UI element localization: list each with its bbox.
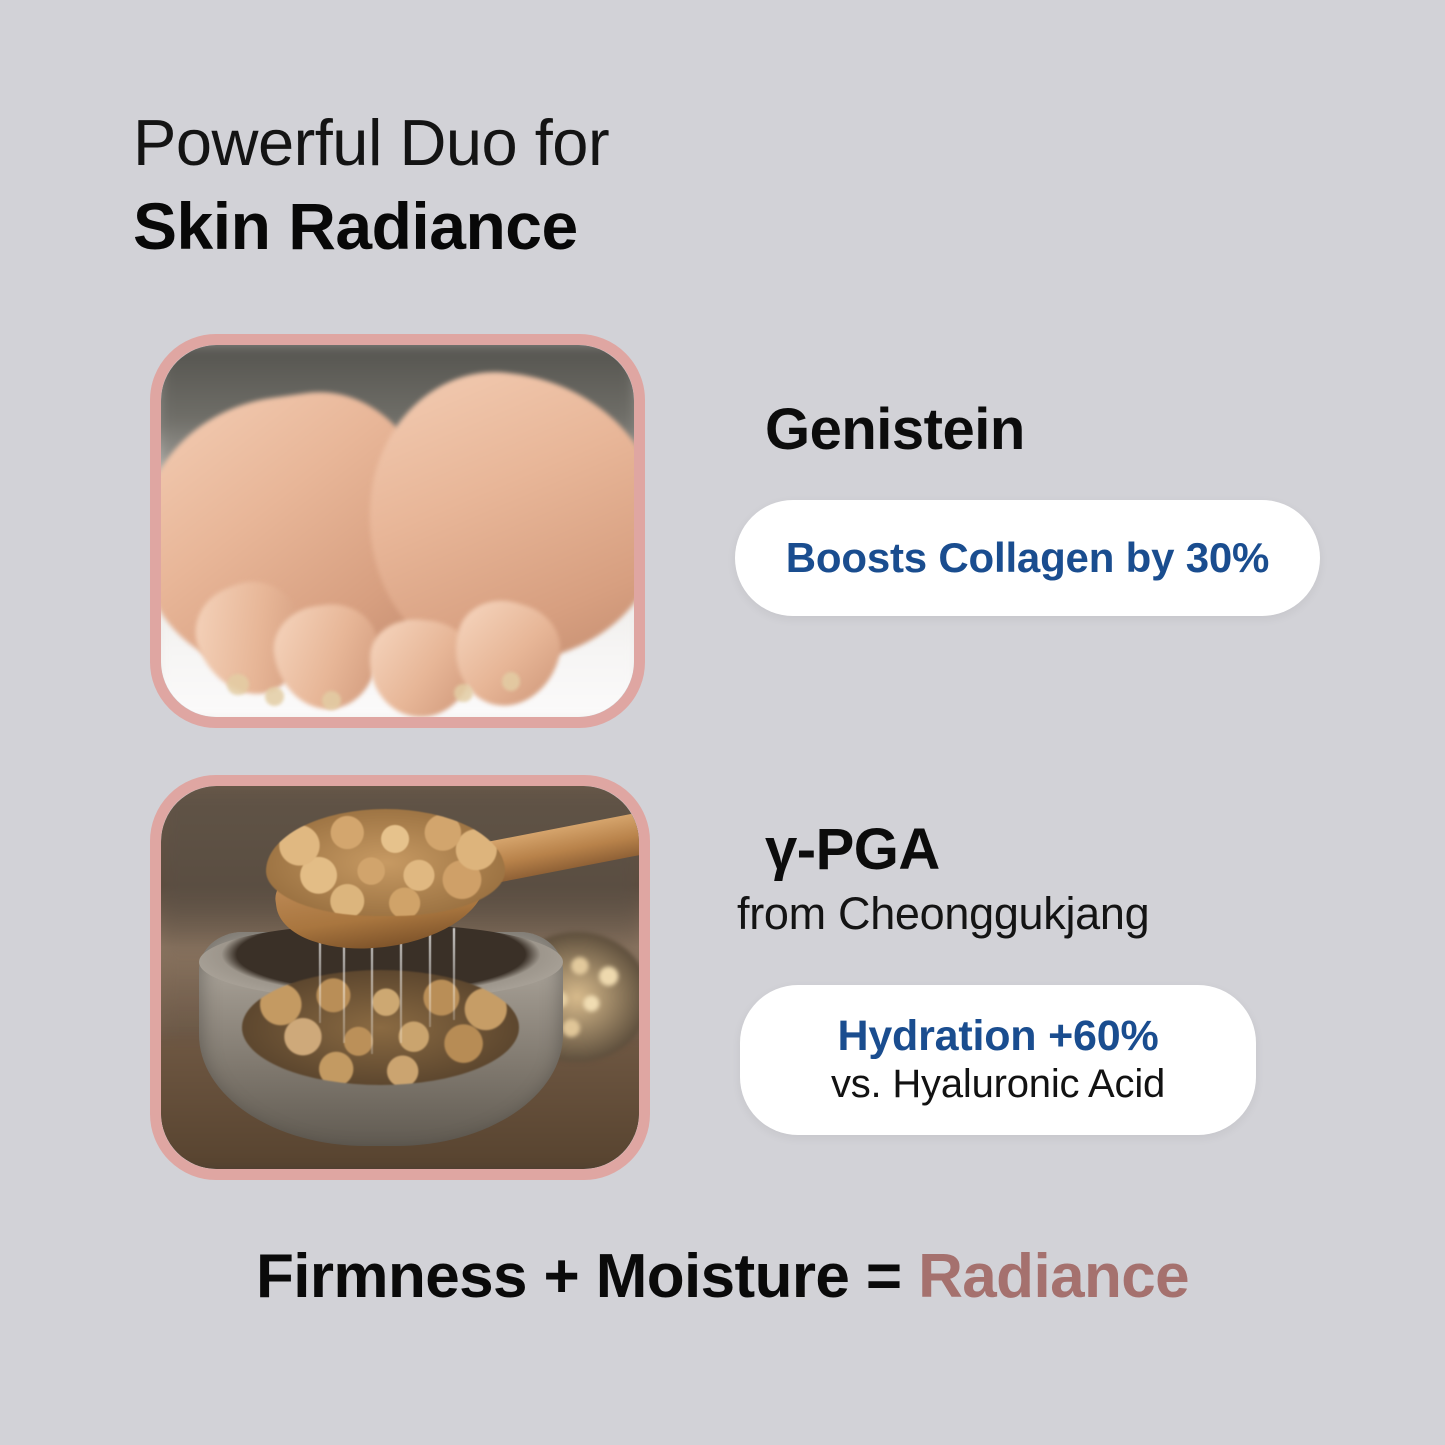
sticky-strand xyxy=(453,928,455,1020)
ingredient-image-gpga xyxy=(150,775,650,1180)
sticky-strand xyxy=(400,928,402,1043)
sticky-strand xyxy=(429,924,431,1027)
stray-soybean xyxy=(454,684,473,703)
claim-text-hydration: Hydration +60% xyxy=(837,1013,1158,1060)
claim-pill-genistein: Boosts Collagen by 30% xyxy=(735,500,1320,616)
ingredient-info-genistein: Genistein Boosts Collagen by 30% xyxy=(735,400,1375,461)
ingredient-info-gpga: γ-PGA from Cheonggukjang Hydration +60% … xyxy=(735,820,1375,940)
page-title: Powerful Duo for Skin Radiance xyxy=(133,105,1033,266)
ingredient-source-gpga: from Cheonggukjang xyxy=(737,887,1375,940)
stray-soybean xyxy=(322,691,341,710)
claim-pill-gpga: Hydration +60% vs. Hyaluronic Acid xyxy=(740,985,1256,1135)
tagline-accent: Radiance xyxy=(918,1242,1189,1311)
fermented-beans-in-bowl xyxy=(242,970,519,1085)
ingredient-name-gpga: γ-PGA xyxy=(765,820,1375,881)
ingredient-name-genistein: Genistein xyxy=(765,400,1375,461)
headline-line-1: Powerful Duo for xyxy=(133,105,1033,182)
stray-soybean xyxy=(227,674,248,694)
stray-soybean xyxy=(265,687,284,706)
infographic-canvas: Powerful Duo for Skin Radiance xyxy=(0,0,1445,1445)
ingredient-image-genistein xyxy=(150,334,645,728)
cheonggukjang-bowl-illustration xyxy=(161,786,639,1169)
claim-text-collagen: Boosts Collagen by 30% xyxy=(786,535,1269,581)
bottom-tagline: Firmness + Moisture = Radiance xyxy=(0,1243,1445,1311)
claim-text-comparison: vs. Hyaluronic Acid xyxy=(831,1062,1165,1107)
tagline-prefix: Firmness + Moisture = xyxy=(256,1242,918,1311)
headline-line-2: Skin Radiance xyxy=(133,188,1033,266)
photo-frame-gpga xyxy=(161,786,639,1169)
soybeans-in-hands-illustration xyxy=(161,345,634,717)
photo-frame-genistein xyxy=(161,345,634,717)
